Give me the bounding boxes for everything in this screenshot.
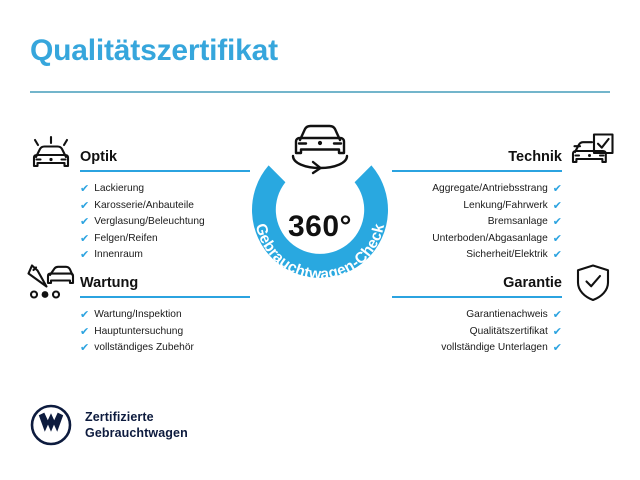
section-wartung: Wartung ✔Wartung/Inspektion✔Hauptuntersu… [80,274,250,357]
footer-brand: Zertifizierte Gebrauchtwagen [30,404,188,446]
checklist-item-label: Innenraum [94,247,143,264]
section-optik: Optik ✔Lackierung✔Karosserie/Anbauteile✔… [80,148,250,264]
checklist-item-label: Lenkung/Fahrwerk [463,198,547,215]
check-icon: ✔ [553,307,562,324]
section-garantie-divider [392,296,562,298]
badge-360-check: Gebrauchtwagen-Check 360° [228,122,412,306]
check-icon: ✔ [553,181,562,198]
checklist-item-label: Garantienachweis [466,307,548,324]
checklist-item: Lenkung/Fahrwerk✔ [392,198,562,215]
check-icon: ✔ [553,324,562,341]
checklist-item-label: Hauptuntersuchung [94,324,183,341]
checklist-item: ✔Verglasung/Beleuchtung [80,214,250,231]
section-technik-items: Aggregate/Antriebsstrang✔Lenkung/Fahrwer… [392,181,562,264]
checklist-item: ✔Innenraum [80,247,250,264]
shield-check-icon [575,263,611,303]
check-icon: ✔ [80,231,89,248]
checklist-item: Garantienachweis✔ [392,307,562,324]
checklist-item-label: Lackierung [94,181,144,198]
check-icon: ✔ [80,340,89,357]
check-icon: ✔ [80,307,89,324]
checklist-item: Sicherheit/Elektrik✔ [392,247,562,264]
checklist-item-label: Qualitätszertifikat [470,324,548,341]
section-technik-title: Technik [392,148,562,166]
checklist-item: ✔vollständiges Zubehör [80,340,250,357]
check-icon: ✔ [553,214,562,231]
checklist-item: ✔Wartung/Inspektion [80,307,250,324]
checklist-item-label: Karosserie/Anbauteile [94,198,194,215]
checklist-item: Bremsanlage✔ [392,214,562,231]
footer-text-line2: Gebrauchtwagen [85,425,188,441]
checklist-item: Qualitätszertifikat✔ [392,324,562,341]
check-icon: ✔ [80,181,89,198]
checklist-item-label: vollständiges Zubehör [94,340,194,357]
checklist-item: ✔Karosserie/Anbauteile [80,198,250,215]
section-garantie: Garantie Garantienachweis✔Qualitätszerti… [392,274,562,357]
badge-center-label: 360° [228,210,412,244]
section-wartung-divider [80,296,250,298]
footer-text-line1: Zertifizierte [85,409,188,425]
car-service-pen-icon [25,261,75,303]
car-checkbox-icon [570,132,616,174]
checklist-item-label: Wartung/Inspektion [94,307,181,324]
vw-logo-icon [30,404,72,446]
section-wartung-title: Wartung [80,274,250,292]
check-icon: ✔ [80,214,89,231]
checklist-item-label: Unterboden/Abgasanlage [432,231,548,248]
checklist-item-label: Sicherheit/Elektrik [466,247,548,264]
section-garantie-items: Garantienachweis✔Qualitätszertifikat✔vol… [392,307,562,357]
section-optik-divider [80,170,250,172]
check-icon: ✔ [553,231,562,248]
footer-text: Zertifizierte Gebrauchtwagen [85,409,188,441]
check-icon: ✔ [553,247,562,264]
section-optik-items: ✔Lackierung✔Karosserie/Anbauteile✔Vergla… [80,181,250,264]
checklist-item-label: vollständige Unterlagen [441,340,547,357]
checklist-item-label: Aggregate/Antriebsstrang [432,181,548,198]
section-optik-header: Optik [80,148,250,172]
section-garantie-header: Garantie [392,274,562,298]
check-icon: ✔ [553,198,562,215]
checklist-item: ✔Hauptuntersuchung [80,324,250,341]
checklist-item: vollständige Unterlagen✔ [392,340,562,357]
check-icon: ✔ [80,198,89,215]
checklist-item-label: Bremsanlage [488,214,548,231]
section-wartung-items: ✔Wartung/Inspektion✔Hauptuntersuchung✔vo… [80,307,250,357]
section-optik-title: Optik [80,148,250,166]
car-shine-icon [28,133,74,175]
checklist-item-label: Verglasung/Beleuchtung [94,214,204,231]
car-rotate-icon [276,118,364,180]
check-icon: ✔ [80,324,89,341]
header-divider [30,91,610,93]
checklist-item-label: Felgen/Reifen [94,231,157,248]
checklist-item: Aggregate/Antriebsstrang✔ [392,181,562,198]
checklist-item: Unterboden/Abgasanlage✔ [392,231,562,248]
section-wartung-header: Wartung [80,274,250,298]
checklist-item: ✔Felgen/Reifen [80,231,250,248]
section-technik: Technik Aggregate/Antriebsstrang✔Lenkung… [392,148,562,264]
page-title: Qualitätszertifikat [30,34,278,68]
checklist-item: ✔Lackierung [80,181,250,198]
section-garantie-title: Garantie [392,274,562,292]
check-icon: ✔ [80,247,89,264]
section-technik-header: Technik [392,148,562,172]
check-icon: ✔ [553,340,562,357]
certificate-page: Qualitätszertifikat Optik ✔Lackierung✔Ka… [0,0,640,480]
section-technik-divider [392,170,562,172]
